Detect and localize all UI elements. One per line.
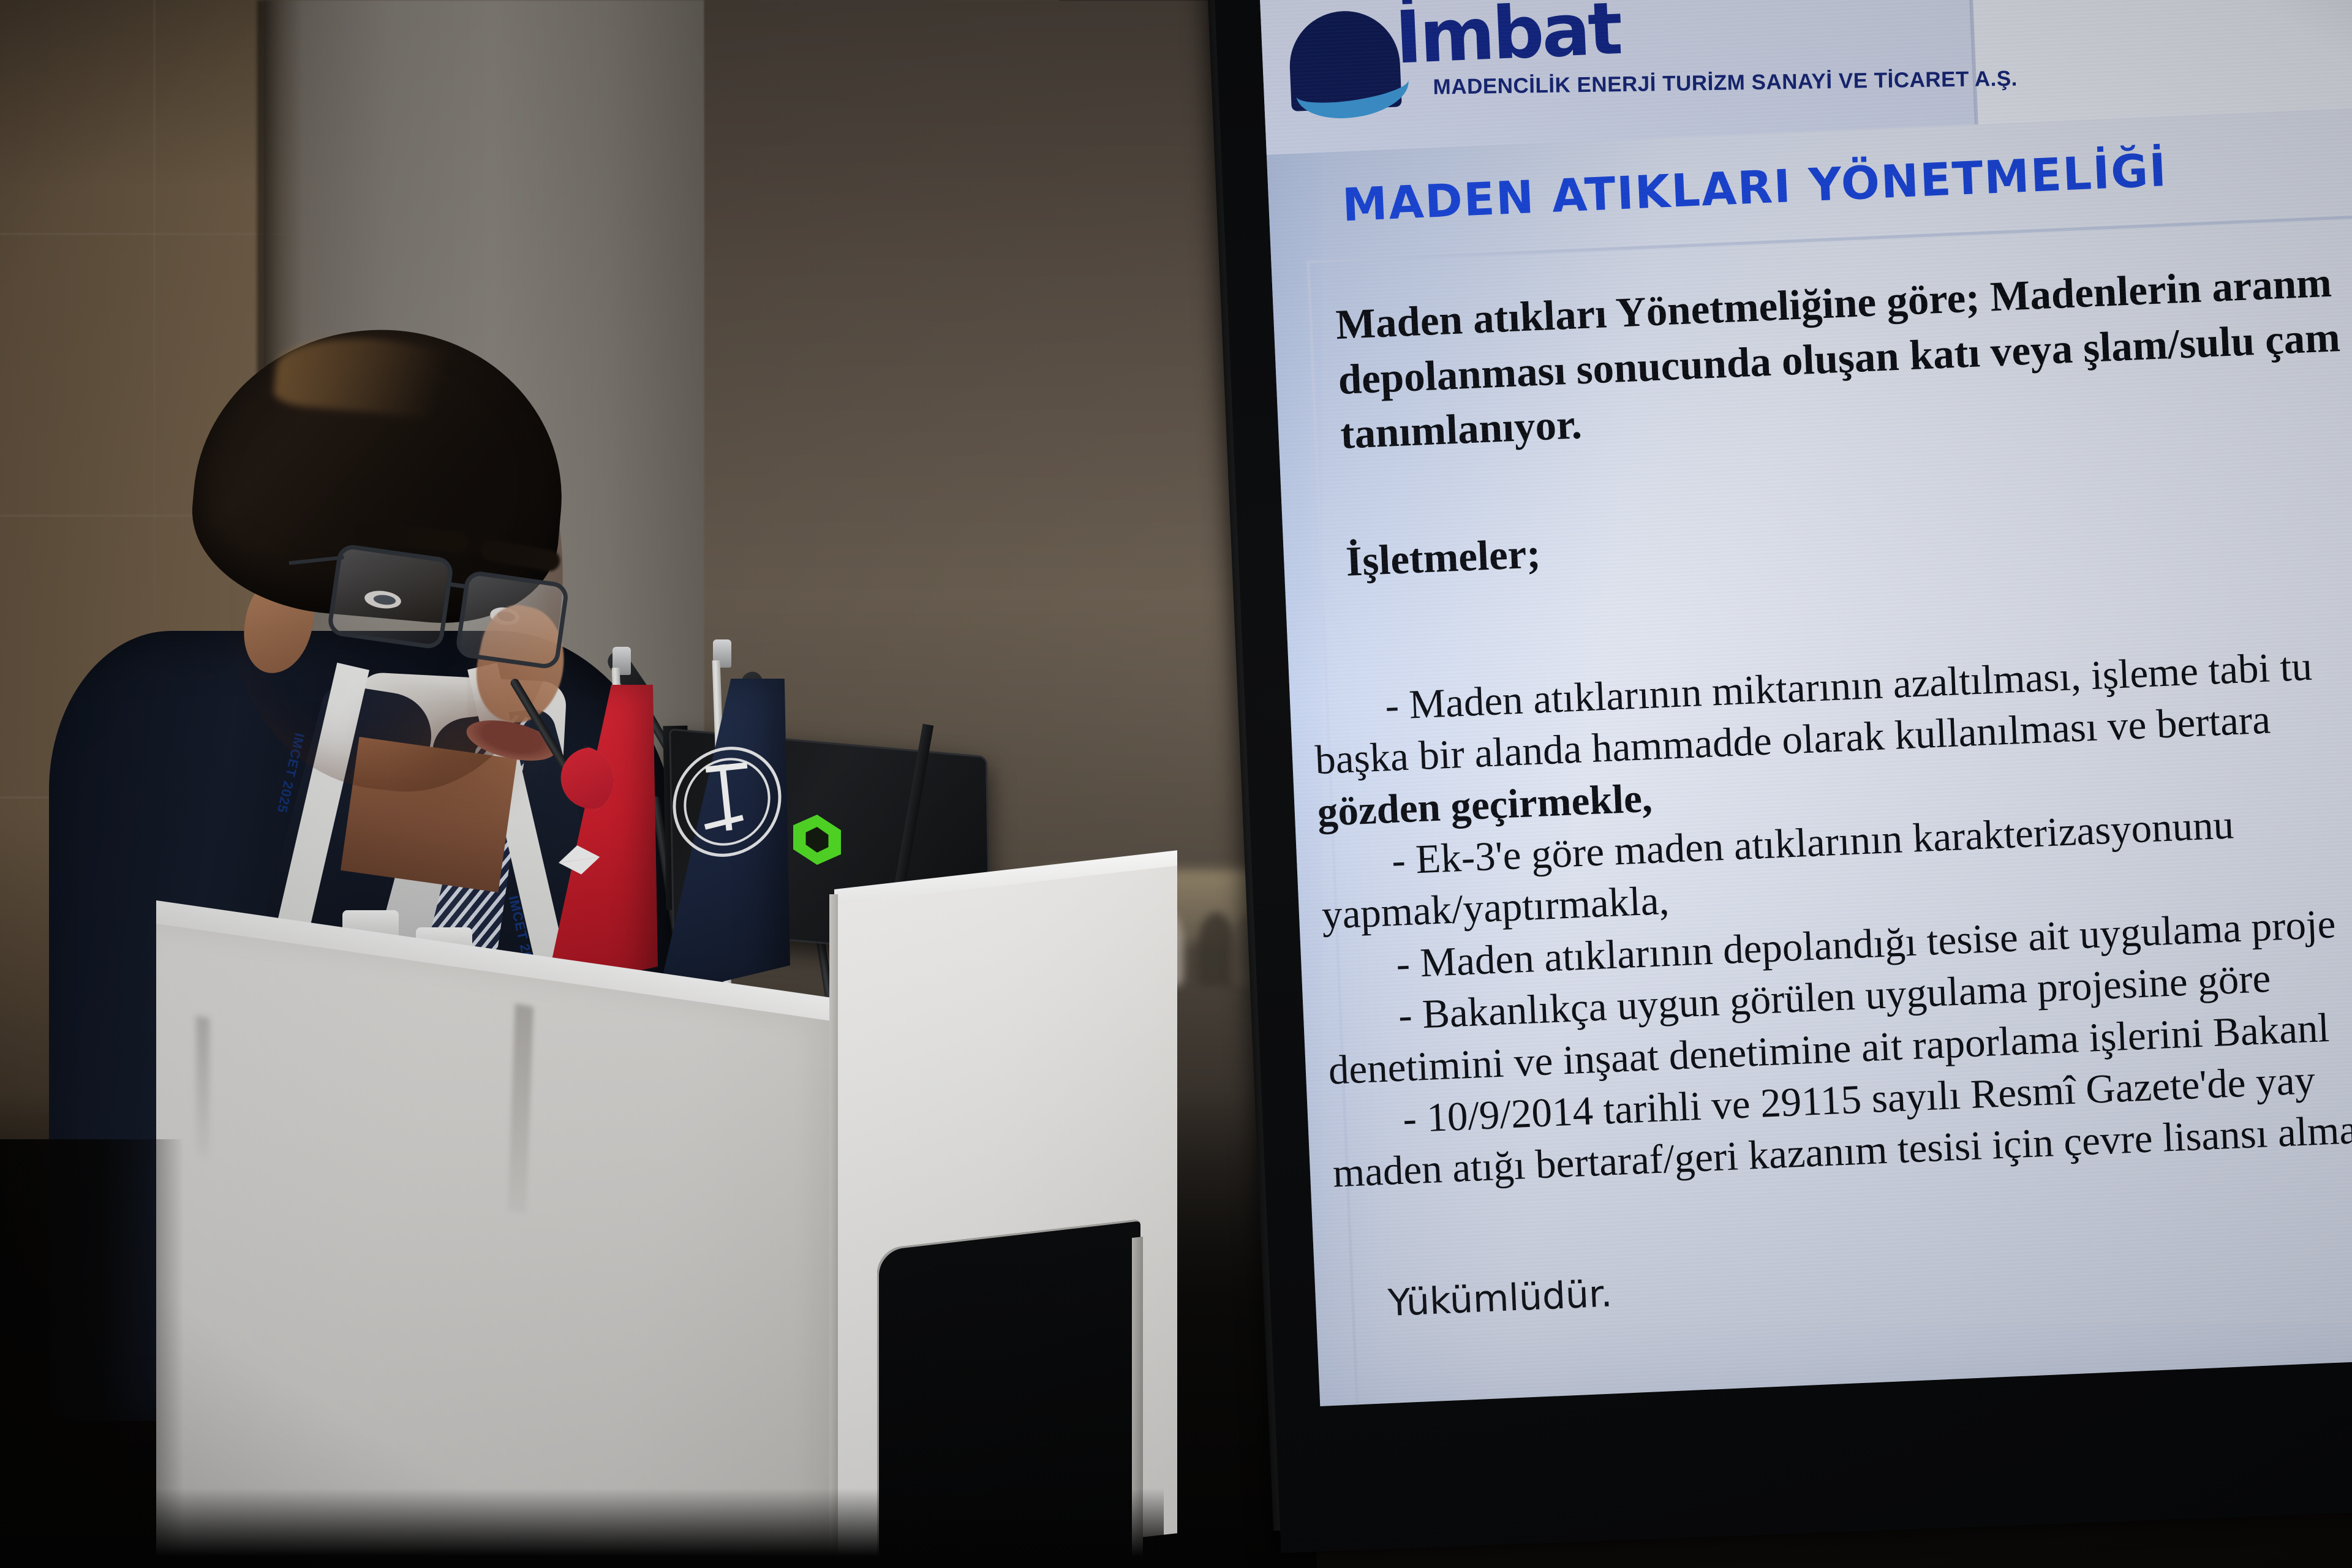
- foreground-shadow: [0, 1488, 1164, 1568]
- imbat-logo-icon: [1287, 9, 1402, 115]
- background-object: [1197, 913, 1235, 986]
- logo-wordmark: İmbat: [1393, 0, 1621, 74]
- slide-body: Maden atıkları Yönetmeliğine göre; Maden…: [1306, 211, 2352, 1405]
- slide-title: MADEN ATIKLARI YÖNETMELİĞİ: [1341, 144, 2169, 232]
- conference-photo-scene: İmbat MADENCİLİK ENERJİ TURİZM SANAYİ VE…: [0, 0, 2352, 1568]
- slide-header-blank: [1970, 0, 2352, 124]
- presentation-slide: İmbat MADENCİLİK ENERJİ TURİZM SANAYİ VE…: [1260, 0, 2352, 1406]
- company-logo-block: İmbat MADENCİLİK ENERJİ TURİZM SANAYİ VE…: [1260, 0, 1977, 155]
- lectern-front-panel: [156, 924, 836, 1568]
- projection-screen: İmbat MADENCİLİK ENERJİ TURİZM SANAYİ VE…: [1246, 0, 2352, 1531]
- slide-header: İmbat MADENCİLİK ENERJİ TURİZM SANAYİ VE…: [1260, 0, 2352, 155]
- lectern-corner-edge: [829, 894, 838, 1568]
